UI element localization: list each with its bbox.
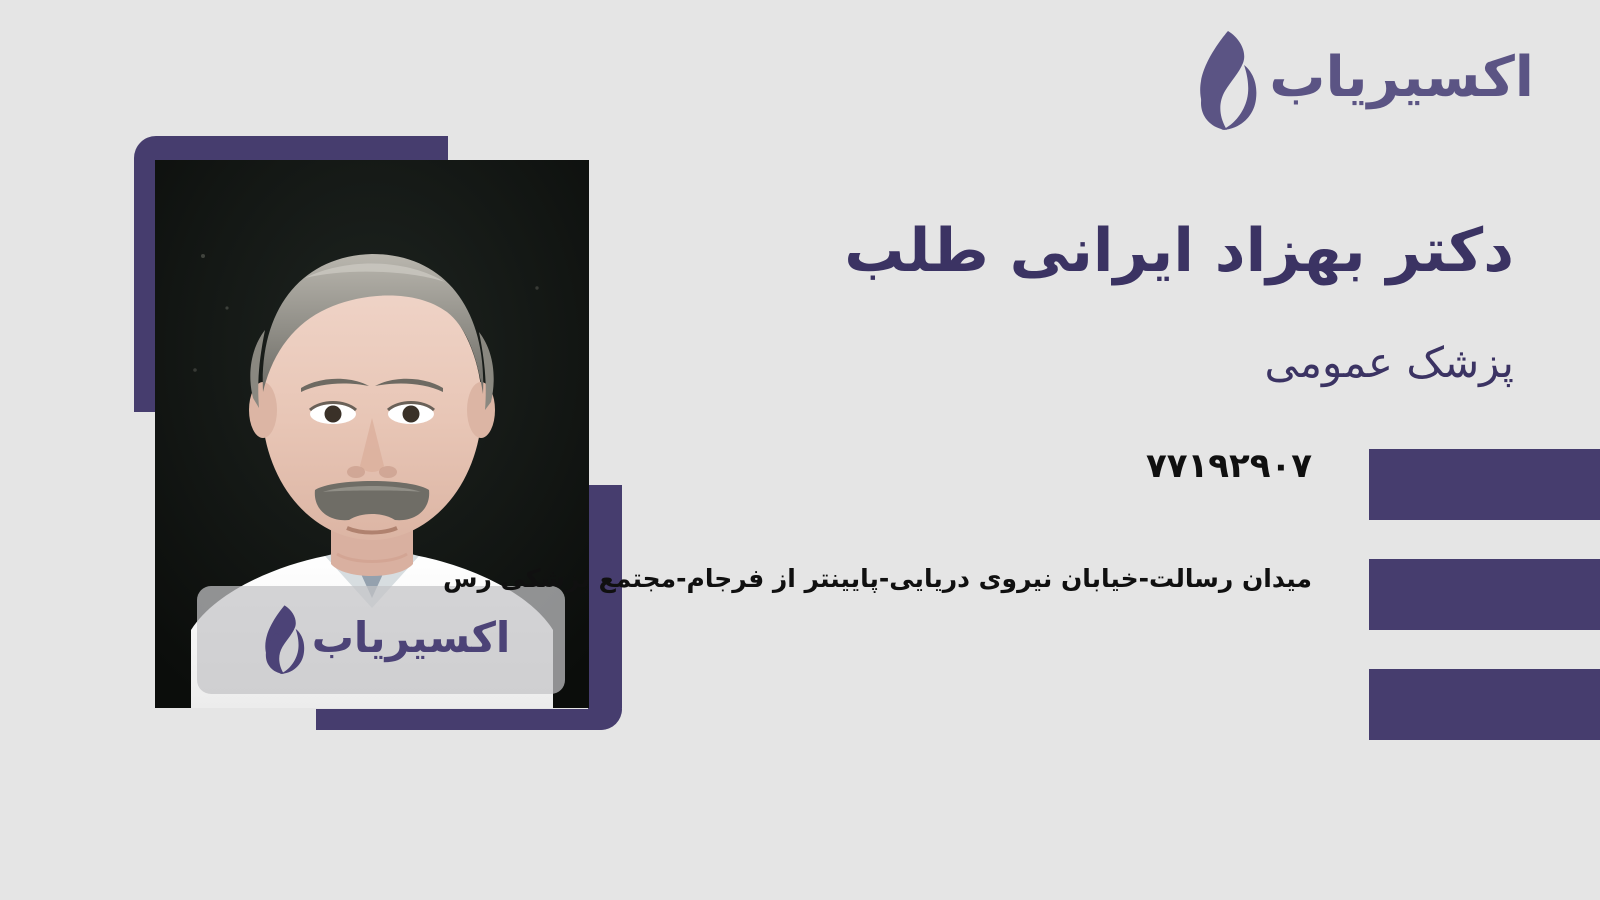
watermark-label: اکسیریاب [312,617,511,659]
doctor-name: دکتر بهزاد ایرانی طلب [844,214,1514,289]
doctor-portrait-photo: اکسیریاب [155,160,589,708]
doctor-specialty: پزشک عمومی [1264,336,1514,391]
accent-bar-2 [1369,559,1600,630]
accent-bar-3 [1369,669,1600,740]
accent-bar-1 [1369,449,1600,520]
brand-name-label: اکسیریاب [1269,50,1534,106]
brand-logo[interactable]: اکسیریاب [1181,26,1534,136]
doctor-profile-card: اکسیریاب [0,0,1600,900]
flame-droplet-icon [1181,29,1259,133]
photo-watermark: اکسیریاب [197,586,565,694]
bottom-frame-decoration [316,709,622,730]
clinic-address: میدان رسالت-خیابان نیروی دریایی-پایینتر … [282,562,1312,596]
phone-number[interactable]: ۷۷۱۹۲۹۰۷ [1146,446,1312,486]
photo-block: اکسیریاب [134,136,624,732]
flame-droplet-icon [252,604,306,676]
bottom-right-frame-decoration [588,485,622,730]
